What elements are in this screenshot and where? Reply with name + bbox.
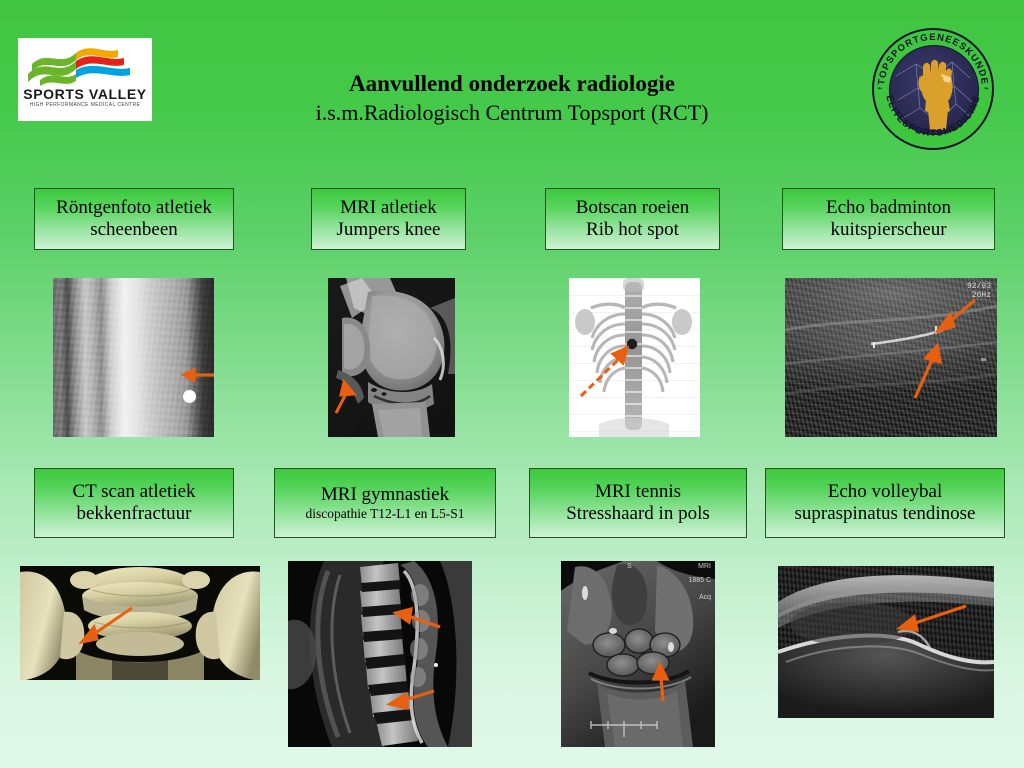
caption-line-2: Rib hot spot [586,219,679,241]
caption-line-2: scheenbeen [90,219,178,241]
slide-canvas: SPORTS VALLEY HIGH PERFORMANCE MEDICAL C… [0,0,1024,768]
emblem-text: TOPSPORTGENEESKUNDE ELITESPORTSMEDICINE [872,28,994,150]
caption-line-1: Echo volleybal [828,481,943,503]
caption-mri-gymnastiek: MRI gymnastiek discopathie T12-L1 en L5-… [274,468,496,538]
image-ct-pelvis [20,566,260,680]
caption-line-1: Botscan roeien [576,197,689,219]
mri-spine-anatomy [288,561,472,747]
ecg-left-icon: ⌁ [877,83,882,94]
sports-valley-wave-icon [18,44,152,88]
image-ultrasound-calf: 92/93 26Hz [785,278,997,437]
caption-line-2: Jumpers knee [337,219,441,241]
caption-line-1: MRI gymnastiek [321,484,449,506]
ct-pelvis-bone [20,566,260,680]
caption-line-2: bekkenfractuur [77,503,192,525]
title-line-1: Aanvullend onderzoek radiologie [180,70,844,98]
caption-line-2: Stresshaard in pols [566,503,710,525]
caption-echo-volleybal: Echo volleybal supraspinatus tendinose [765,468,1005,538]
caption-ct-atletiek: CT scan atletiek bekkenfractuur [34,468,234,538]
svg-text:TOPSPORTGENEESKUNDE: TOPSPORTGENEESKUNDE [876,32,990,86]
sports-valley-logo: SPORTS VALLEY HIGH PERFORMANCE MEDICAL C… [18,38,152,121]
topsportgeneeskunde-emblem: TOPSPORTGENEESKUNDE ELITESPORTSMEDICINE … [872,28,994,150]
bone-scan-skeleton [569,278,700,437]
image-mri-spine [288,561,472,747]
caption-mri-atletiek: MRI atletiek Jumpers knee [311,188,466,250]
wrist-overlay-number: 1885 C [688,577,711,584]
caption-line-1: Echo badminton [826,197,951,219]
wrist-overlay-acq: Acq [699,594,711,601]
overlay-line-2: 26Hz [967,291,991,300]
xray-grain [53,278,214,437]
caption-line-2: kuitspierscheur [830,219,946,241]
overlay-line-1: 92/93 [967,282,991,291]
caption-botscan-roeien: Botscan roeien Rib hot spot [545,188,720,250]
image-mri-wrist: S MRI 1885 C Acq [561,561,715,747]
image-bone-scan [569,278,700,437]
slide-title: Aanvullend onderzoek radiologie i.s.m.Ra… [180,70,844,128]
mri-wrist-anatomy [561,561,715,747]
image-xray-tibia [53,278,214,437]
ultrasound-calf-fascia [785,278,997,437]
caption-echo-badminton: Echo badminton kuitspierscheur [782,188,995,250]
caption-line-1: Röntgenfoto atletiek [56,197,212,219]
title-line-2: i.s.m.Radiologisch Centrum Topsport (RCT… [180,98,844,128]
caption-mri-tennis: MRI tennis Stresshaard in pols [529,468,747,538]
wrist-overlay-s: S [627,563,632,570]
svg-text:ELITESPORTSMEDICINE: ELITESPORTSMEDICINE [883,94,982,139]
xray-marker-dot [183,390,196,403]
caption-rontgen-atletiek: Röntgenfoto atletiek scheenbeen [34,188,234,250]
caption-line-1: MRI atletiek [340,197,437,219]
sports-valley-name: SPORTS VALLEY [18,86,152,102]
emblem-text-top: TOPSPORTGENEESKUNDE [876,32,990,86]
image-ultrasound-shoulder [778,566,994,718]
caption-line-1: CT scan atletiek [72,481,195,503]
ultrasound-overlay-text: 92/93 26Hz [967,282,991,300]
ultrasound-shoulder-tendon [778,566,994,718]
sports-valley-tagline: HIGH PERFORMANCE MEDICAL CENTRE [18,102,152,108]
mri-knee-anatomy [328,278,455,437]
caption-line-2: discopathie T12-L1 en L5-S1 [305,506,464,522]
image-mri-knee [328,278,455,437]
caption-line-1: MRI tennis [595,481,681,503]
wrist-overlay-mri: MRI [698,563,711,570]
caption-line-2: supraspinatus tendinose [794,503,975,525]
ecg-right-icon: ⌁ [984,83,989,94]
emblem-text-bottom: ELITESPORTSMEDICINE [883,94,982,139]
